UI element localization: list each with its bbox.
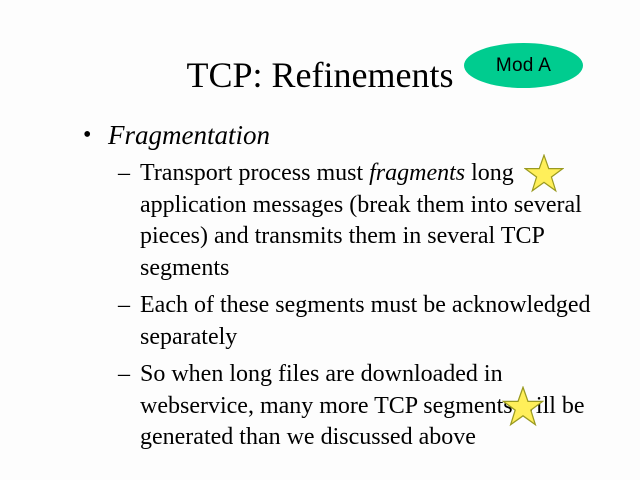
bullet-dash-icon: – [118, 359, 130, 391]
star-annotation-1-icon [524, 154, 564, 194]
emphasis-fragments: fragments [369, 160, 465, 186]
bullet-level2-item-2: – Each of these segments must be acknowl… [0, 290, 640, 353]
mod-a-badge[interactable]: Mod A [464, 43, 583, 88]
bullet-level2-text-2: Each of these segments must be acknowled… [140, 290, 604, 353]
text-segment-before: Transport process must [140, 160, 369, 186]
bullet-level1-label: Fragmentation [108, 118, 270, 152]
bullet-level1-fragmentation: • Fragmentation [0, 118, 640, 152]
star-annotation-2-icon [502, 386, 544, 428]
bullet-dot-icon: • [83, 118, 91, 152]
bullet-dash-icon: – [118, 158, 130, 190]
badge-label: Mod A [464, 43, 583, 88]
slide-canvas: TCP: Refinements Mod A • Fragmentation –… [0, 0, 640, 480]
bullet-dash-icon: – [118, 290, 130, 322]
bullet-level2-item-3: – So when long files are downloaded in w… [0, 359, 640, 454]
